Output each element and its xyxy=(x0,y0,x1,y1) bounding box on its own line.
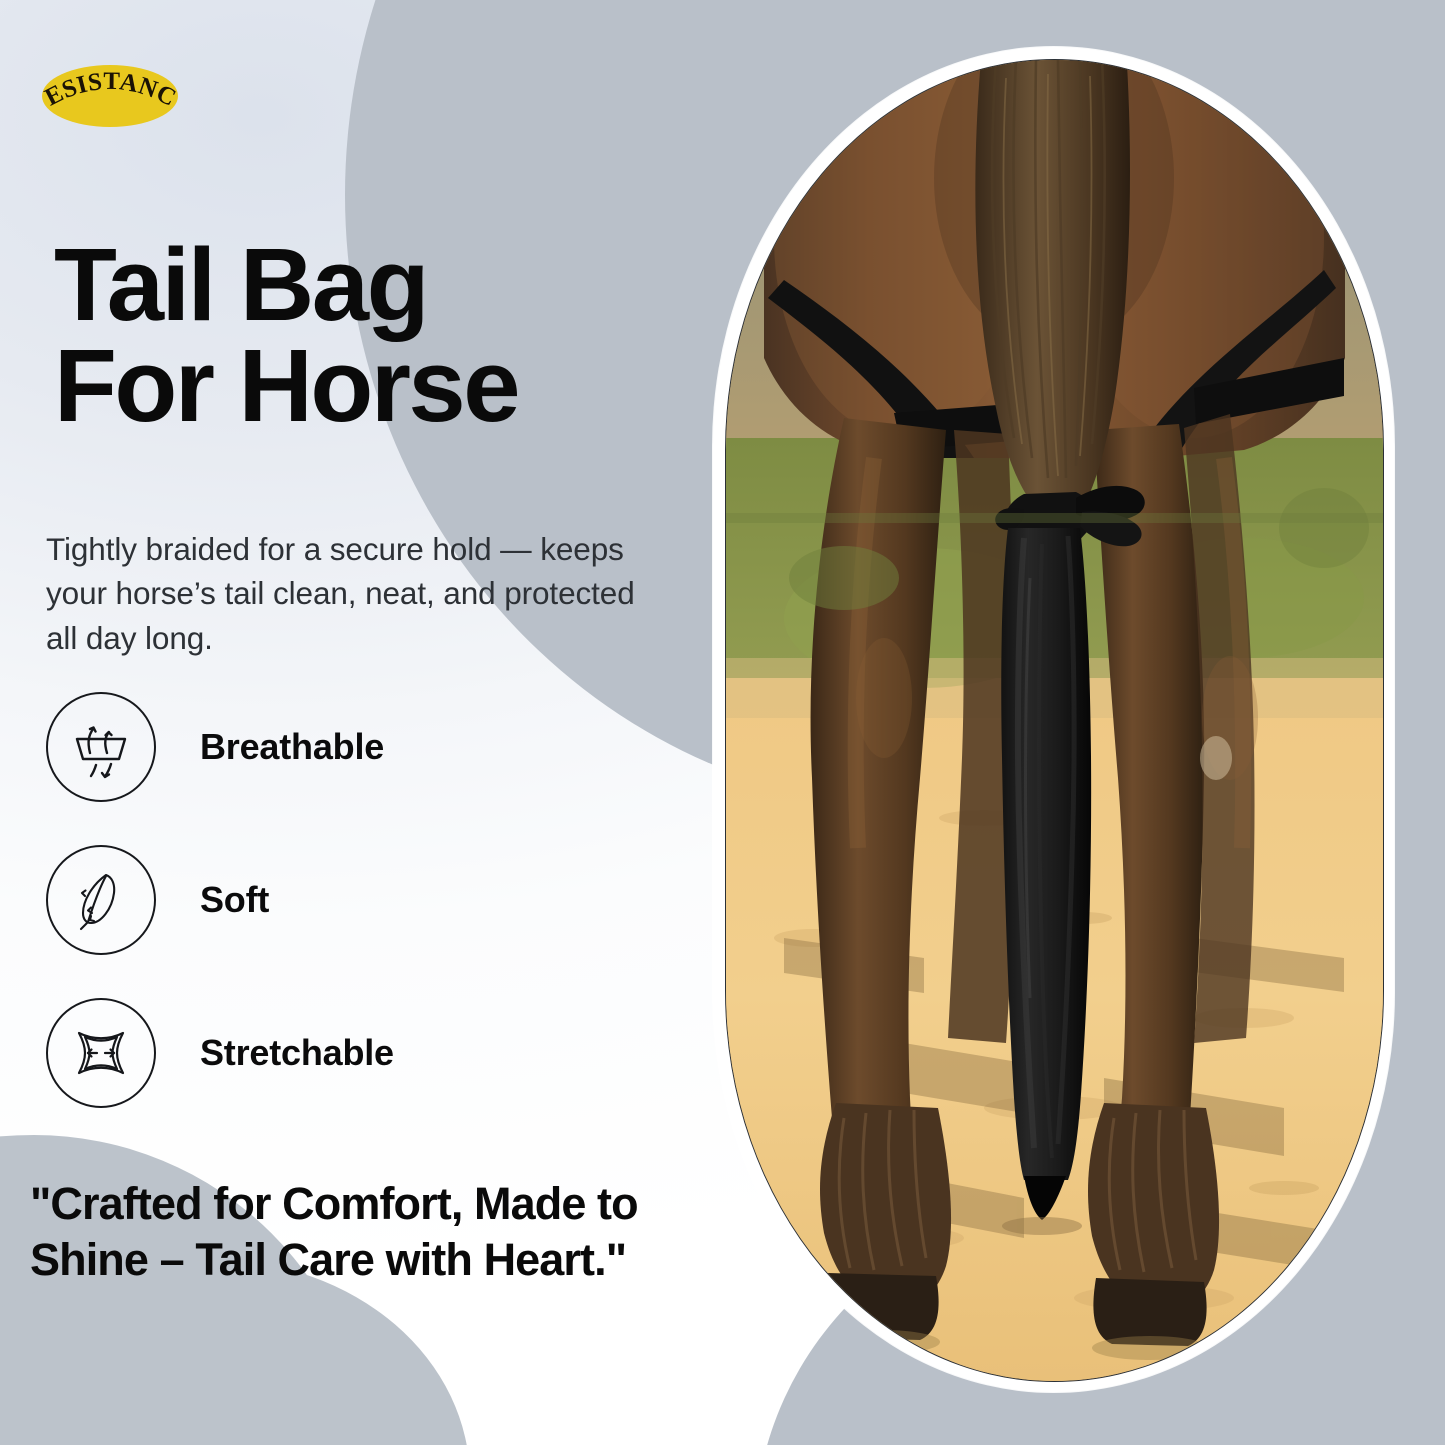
stretch-arrows-icon xyxy=(46,998,156,1108)
feature-item-breathable: Breathable xyxy=(46,688,666,806)
headline-line-1: Tail Bag xyxy=(54,227,427,342)
feather-icon xyxy=(46,845,156,955)
page-title: Tail Bag For Horse xyxy=(54,235,694,437)
tagline-quote: "Crafted for Comfort, Made to Shine – Ta… xyxy=(30,1176,720,1289)
feature-label: Stretchable xyxy=(200,1032,394,1074)
product-photo-frame xyxy=(713,47,1394,1392)
infographic-canvas: RESISTANCE Tail Bag For Horse Tightly br… xyxy=(0,0,1445,1445)
breathable-fabric-airflow-icon xyxy=(46,692,156,802)
photo-illustration xyxy=(725,59,1384,1382)
brand-logo: RESISTANCE xyxy=(35,60,185,132)
headline-line-2: For Horse xyxy=(54,336,694,437)
feature-label: Breathable xyxy=(200,726,384,768)
feature-item-stretchable: Stretchable xyxy=(46,994,666,1112)
subheadline-description: Tightly braided for a secure hold — keep… xyxy=(46,527,666,661)
resistance-logo-icon: RESISTANCE xyxy=(35,60,185,132)
feature-item-soft: Soft xyxy=(46,841,666,959)
left-content-column: RESISTANCE Tail Bag For Horse Tightly br… xyxy=(0,0,715,1445)
horse-rear-with-black-tail-bag-photo xyxy=(725,59,1384,1382)
feature-list: Breathable Soft xyxy=(46,688,666,1112)
feature-label: Soft xyxy=(200,879,269,921)
